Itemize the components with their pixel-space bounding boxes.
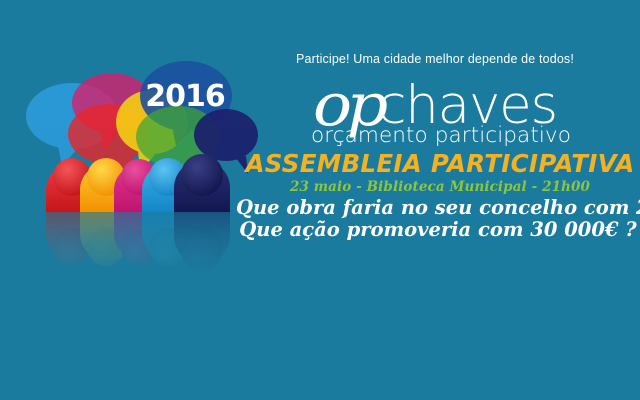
people-row	[46, 154, 230, 212]
tagline: Participe! Uma cidade melhor depende de …	[230, 52, 640, 67]
poster-canvas: 2016	[0, 0, 640, 400]
logo-op-text: op	[313, 75, 383, 134]
question-line-2: Que ação promoveria com 30 000€ ?	[236, 219, 640, 241]
logo-subtitle: orçamento participativo	[242, 124, 640, 148]
event-dateline: 23 maio - Biblioteca Municipal - 21h00	[240, 178, 640, 196]
logo-wordmark: opchaves	[230, 73, 640, 125]
question-line-1: Que obra faria no seu concelho com 250 0…	[236, 197, 640, 219]
poster-text-block: Participe! Uma cidade melhor depende de …	[230, 52, 640, 241]
people-reflections	[46, 212, 230, 270]
event-title: ASSEMBLEIA PARTICIPATIVA	[240, 150, 640, 178]
year-badge-2016: 2016	[145, 79, 225, 114]
